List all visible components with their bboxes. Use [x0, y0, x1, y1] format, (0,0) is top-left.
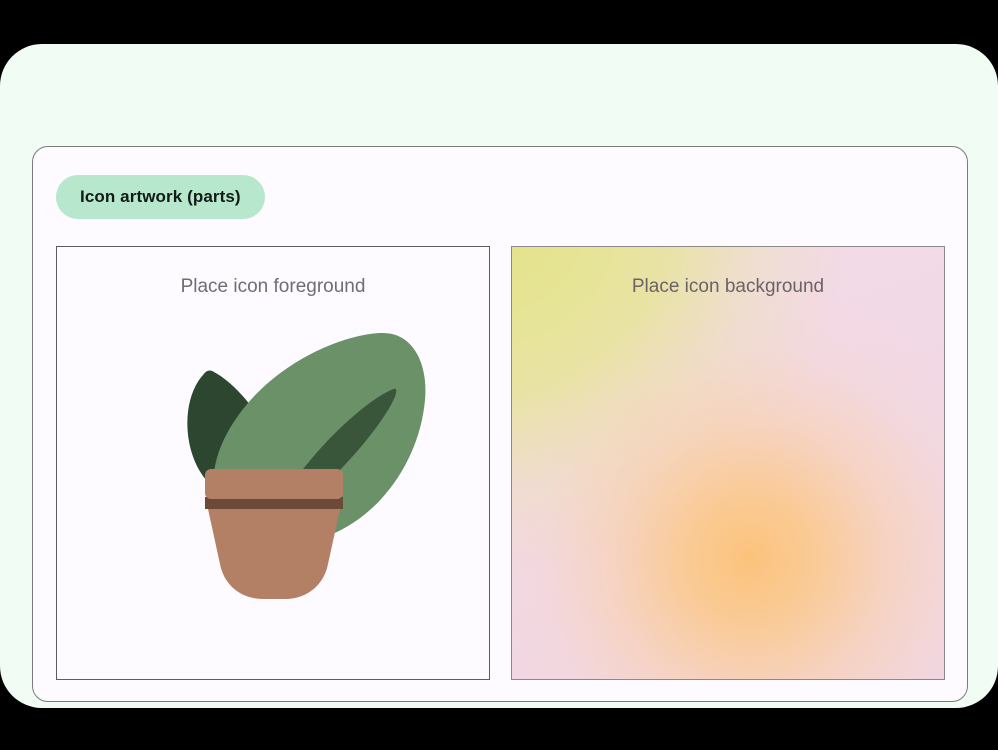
- section-badge: Icon artwork (parts): [56, 175, 265, 219]
- pot-body-shape: [208, 509, 340, 599]
- icon-background-panel[interactable]: Place icon background: [511, 246, 945, 680]
- section-badge-label: Icon artwork (parts): [80, 187, 241, 207]
- potted-plant-icon: [57, 247, 491, 681]
- icon-foreground-panel[interactable]: Place icon foreground: [56, 246, 490, 680]
- outer-panel: Icon artwork (parts) Place icon foregrou…: [0, 44, 998, 708]
- screen: Icon artwork (parts) Place icon foregrou…: [0, 0, 998, 750]
- artwork-panels: Place icon foreground: [56, 246, 946, 680]
- pot-rim-shape: [205, 469, 343, 499]
- icon-artwork-card: Icon artwork (parts) Place icon foregrou…: [32, 146, 968, 702]
- icon-background-label: Place icon background: [512, 276, 944, 298]
